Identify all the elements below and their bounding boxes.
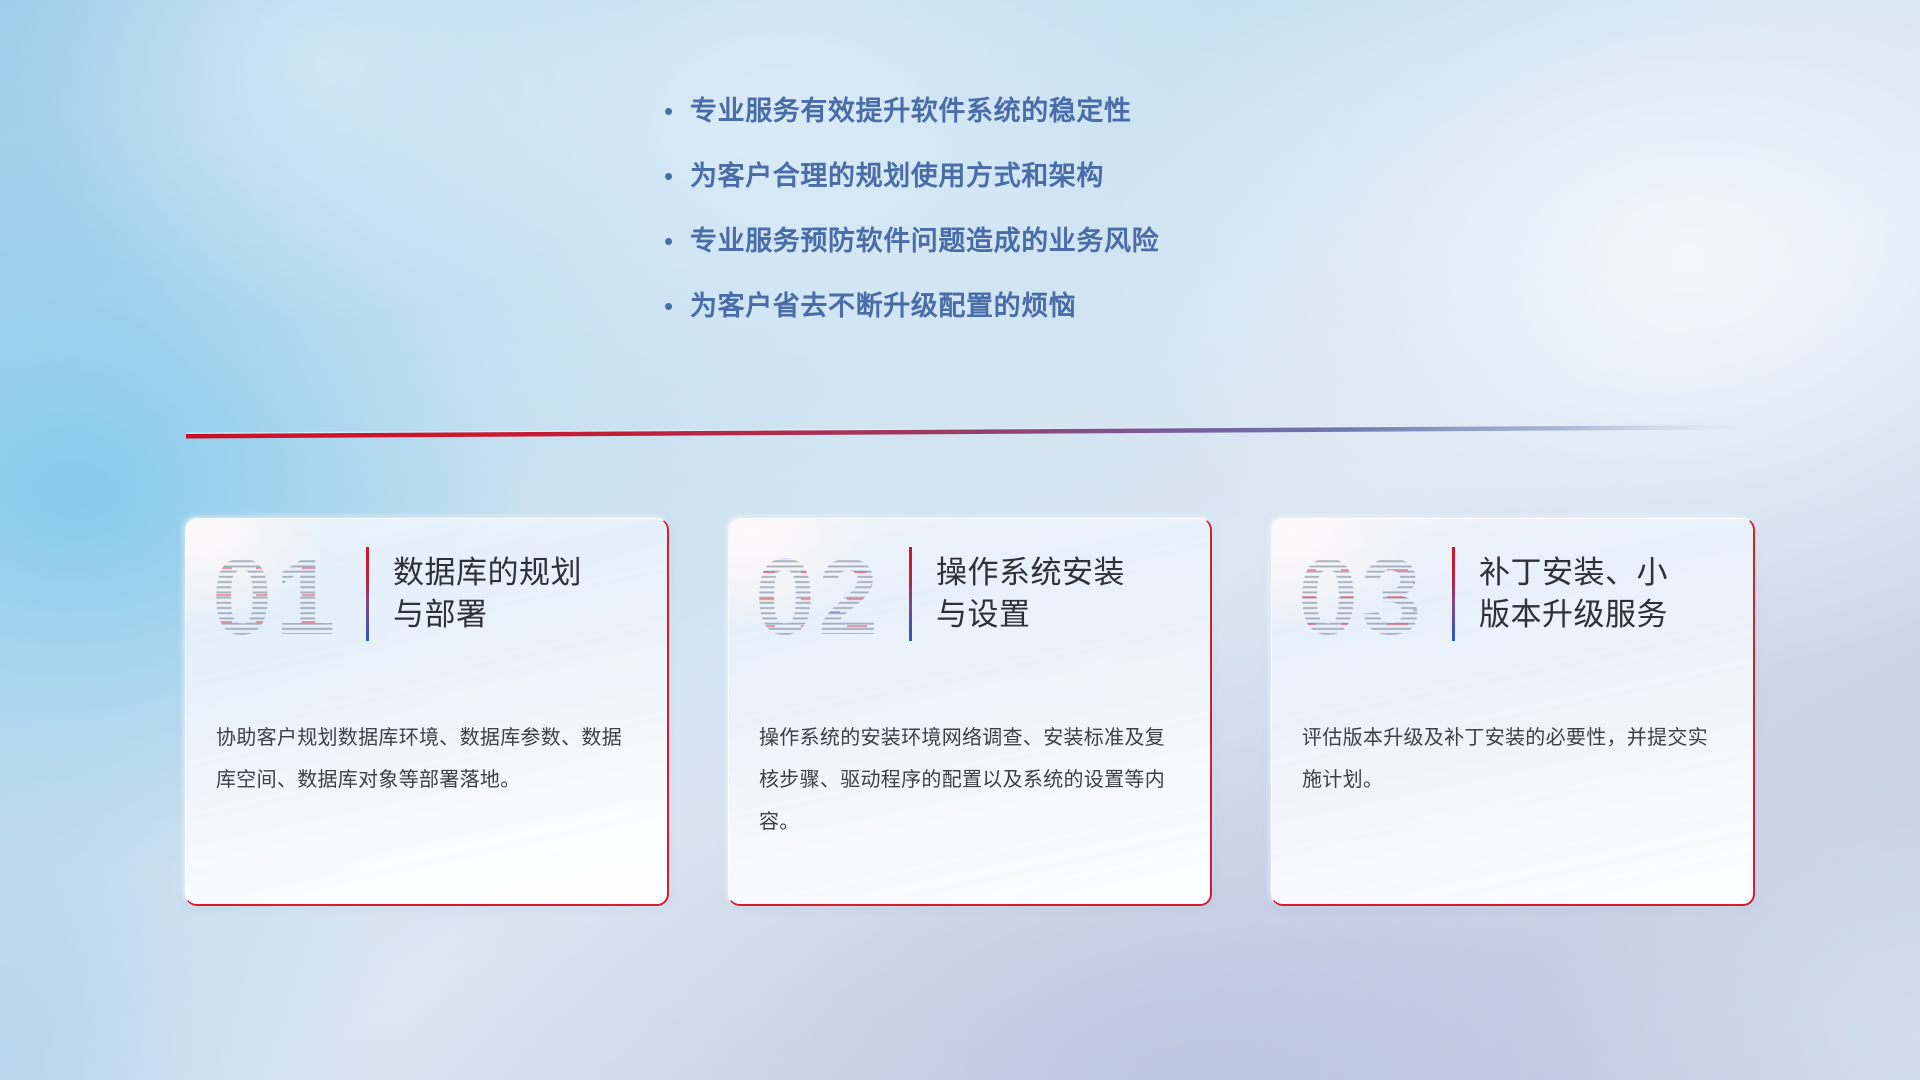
title-accent-bar xyxy=(909,547,912,641)
service-card[interactable]: 02 02 操作系统安装 与设置 操作系统的安装环境网络调查、安装标准及复核步骤… xyxy=(728,518,1212,906)
card-title-line-2: 与设置 xyxy=(936,597,1031,632)
section-divider xyxy=(186,420,1746,440)
card-title: 操作系统安装 与设置 xyxy=(936,552,1125,636)
bullet-dot-icon: • xyxy=(664,92,690,130)
bullet-label: 专业服务有效提升软件系统的稳定性 xyxy=(690,92,1132,130)
card-title-line-1: 补丁安装、小 xyxy=(1479,555,1668,590)
bullet-item: • 专业服务预防软件问题造成的业务风险 xyxy=(664,222,1564,287)
service-card[interactable]: 01 01 数据库的规划 与部署 协助客户规划数据库环境、数据库参数、数据库空间… xyxy=(185,518,669,906)
bullet-label: 为客户合理的规划使用方式和架构 xyxy=(690,157,1104,195)
card-title-line-1: 数据库的规划 xyxy=(393,555,582,590)
card-header: 01 01 数据库的规划 与部署 xyxy=(186,519,667,669)
service-card-row: 01 01 数据库的规划 与部署 协助客户规划数据库环境、数据库参数、数据库空间… xyxy=(185,518,1755,918)
bullet-dot-icon: • xyxy=(664,287,690,325)
card-number-accent: 03 xyxy=(1298,536,1424,654)
card-title-line-2: 版本升级服务 xyxy=(1479,597,1668,632)
card-number-watermark: 03 03 xyxy=(1294,534,1446,654)
card-number-watermark: 01 01 xyxy=(208,534,360,654)
title-accent-bar xyxy=(1452,547,1455,641)
card-description: 操作系统的安装环境网络调查、安装标准及复核步骤、驱动程序的配置以及系统的设置等内… xyxy=(759,717,1176,843)
service-card[interactable]: 03 03 补丁安装、小 版本升级服务 评估版本升级及补丁安装的必要性，并提交实… xyxy=(1271,518,1755,906)
title-accent-bar xyxy=(366,547,369,641)
card-number-accent: 02 xyxy=(755,536,881,654)
card-title-line-1: 操作系统安装 xyxy=(936,555,1125,590)
bullet-item: • 专业服务有效提升软件系统的稳定性 xyxy=(664,92,1564,157)
card-description: 协助客户规划数据库环境、数据库参数、数据库空间、数据库对象等部署落地。 xyxy=(216,717,633,801)
benefits-bullet-list: • 专业服务有效提升软件系统的稳定性 • 为客户合理的规划使用方式和架构 • 专… xyxy=(664,92,1564,352)
card-header: 02 02 操作系统安装 与设置 xyxy=(729,519,1210,669)
slide-canvas: • 专业服务有效提升软件系统的稳定性 • 为客户合理的规划使用方式和架构 • 专… xyxy=(0,0,1920,1080)
card-header: 03 03 补丁安装、小 版本升级服务 xyxy=(1272,519,1753,669)
bullet-label: 专业服务预防软件问题造成的业务风险 xyxy=(690,222,1159,260)
bullet-item: • 为客户省去不断升级配置的烦恼 xyxy=(664,287,1564,352)
bullet-item: • 为客户合理的规划使用方式和架构 xyxy=(664,157,1564,222)
card-title: 数据库的规划 与部署 xyxy=(393,552,582,636)
bullet-label: 为客户省去不断升级配置的烦恼 xyxy=(690,287,1076,325)
bullet-dot-icon: • xyxy=(664,222,690,260)
card-number-accent: 01 xyxy=(212,536,338,654)
card-title: 补丁安装、小 版本升级服务 xyxy=(1479,552,1668,636)
card-number-watermark: 02 02 xyxy=(751,534,903,654)
card-title-line-2: 与部署 xyxy=(393,597,488,632)
bullet-dot-icon: • xyxy=(664,157,690,195)
card-description: 评估版本升级及补丁安装的必要性，并提交实施计划。 xyxy=(1302,717,1719,801)
